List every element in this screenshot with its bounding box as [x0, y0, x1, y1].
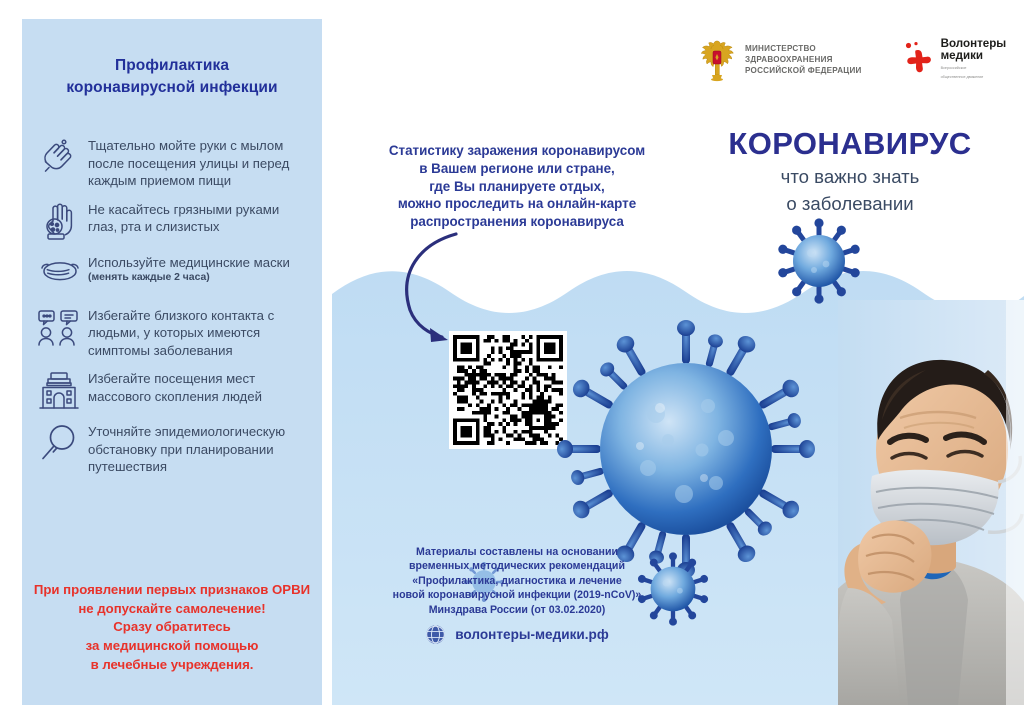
volunteers-logo: Волонтеры медики Всероссийское обществен… [902, 38, 1007, 81]
volunteers-tagline1: Всероссийское [941, 66, 1007, 72]
globe-icon [425, 624, 446, 645]
warning-line5: в лечебные учреждения. [30, 656, 314, 675]
list-item-text: Используйте медицинские маски [88, 255, 290, 270]
magnifying-glass-icon [36, 421, 82, 465]
warning-line3: Сразу обратитесь [30, 618, 314, 637]
volunteers-logo-text: Волонтеры медики Всероссийское обществен… [941, 38, 1007, 81]
two-people-talking-icon [36, 305, 82, 349]
poster: Профилактика коронавирусной инфекции Тща… [0, 0, 1024, 724]
ministry-line1: МИНИСТЕРСТВО [745, 43, 862, 54]
panel-title-line2: коронавирусной инфекции [22, 77, 322, 99]
public-building-icon [36, 368, 82, 412]
washing-hands-icon [36, 135, 82, 179]
volunteers-tagline2: общественное движение [941, 75, 1007, 81]
red-cross-icon [902, 41, 934, 77]
callout-line4: можно проследить на онлайн-карте [352, 195, 682, 213]
list-item-label: Избегайте близкого контакта с людьми, у … [88, 305, 306, 360]
website-url[interactable]: волонтеры-медики.рф [455, 627, 609, 642]
list-item: Избегайте посещения мест массового скопл… [22, 368, 322, 412]
coronavirus-illustration-small-1 [776, 218, 862, 304]
page-title: КОРОНАВИРУС что важно знать о заболевани… [690, 128, 1010, 216]
qr-code-canvas[interactable] [453, 335, 563, 445]
headline-sub-line1: что важно знать [690, 166, 1010, 189]
methodology-line4: новой коронавирусной инфекции (2019-nCoV… [352, 588, 682, 602]
list-item-label: Избегайте посещения мест массового скопл… [88, 368, 306, 405]
logo-row: МИНИСТЕРСТВО ЗДРАВООХРАНЕНИЯ РОССИЙСКОЙ … [697, 36, 1006, 82]
list-item: Тщательно мойте руки с мылом после посещ… [22, 135, 322, 190]
qr-code[interactable] [449, 331, 567, 449]
methodology-line5: Минздрава России (от 03.02.2020) [352, 603, 682, 617]
headline-main: КОРОНАВИРУС [690, 128, 1010, 161]
list-item-label: Используйте медицинские маски (менять ка… [88, 252, 306, 285]
warning-text: При проявлении первых признаков ОРВИ не … [30, 581, 314, 675]
warning-line2: не допускайте самолечение! [30, 600, 314, 619]
methodology-line2: временных методических рекомендаций [352, 559, 682, 573]
russian-double-headed-eagle-icon [697, 36, 737, 82]
methodology-note: Материалы составлены на основании времен… [352, 545, 682, 617]
statistics-callout: Статистику заражения коронавирусом в Ваш… [352, 142, 682, 231]
curved-arrow-down-icon [386, 228, 506, 344]
panel-title-line1: Профилактика [22, 55, 322, 77]
website-link[interactable]: волонтеры-медики.рф [352, 624, 682, 645]
ministry-logo-text: МИНИСТЕРСТВО ЗДРАВООХРАНЕНИЯ РОССИЙСКОЙ … [745, 43, 862, 76]
volunteers-line2: медики [941, 50, 1007, 63]
panel-title: Профилактика коронавирусной инфекции [22, 55, 322, 100]
callout-line3: где Вы планируете отдых, [352, 178, 682, 196]
list-item-label: Тщательно мойте руки с мылом после посещ… [88, 135, 306, 190]
methodology-line3: «Профилактика, диагностика и лечение [352, 574, 682, 588]
dirty-hand-icon [36, 199, 82, 243]
prevention-panel: Профилактика коронавирусной инфекции Тща… [22, 19, 322, 705]
coughing-person-in-mask-photo [838, 300, 1024, 705]
callout-line1: Статистику заражения коронавирусом [352, 142, 682, 160]
coughing-person-illustration [838, 300, 1024, 705]
list-item-subtext: (менять каждые 2 часа) [88, 272, 306, 284]
warning-line4: за медицинской помощью [30, 637, 314, 656]
ministry-line2: ЗДРАВООХРАНЕНИЯ [745, 54, 862, 65]
list-item-label: Не касайтесь грязными руками глаз, рта и… [88, 199, 306, 236]
list-item: Уточняйте эпидемиологическую обстановку … [22, 421, 322, 476]
list-item: Используйте медицинские маски (менять ка… [22, 252, 322, 296]
callout-line2: в Вашем регионе или стране, [352, 160, 682, 178]
prevention-tips-list: Тщательно мойте руки с мылом после посещ… [22, 135, 322, 485]
ministry-logo: МИНИСТЕРСТВО ЗДРАВООХРАНЕНИЯ РОССИЙСКОЙ … [697, 36, 862, 82]
list-item: Не касайтесь грязными руками глаз, рта и… [22, 199, 322, 243]
methodology-line1: Материалы составлены на основании [352, 545, 682, 559]
face-mask-icon [36, 252, 82, 296]
list-item-label: Уточняйте эпидемиологическую обстановку … [88, 421, 306, 476]
coronavirus-illustration-large [556, 318, 816, 580]
list-item: Избегайте близкого контакта с людьми, у … [22, 305, 322, 360]
warning-line1: При проявлении первых признаков ОРВИ [30, 581, 314, 600]
ministry-line3: РОССИЙСКОЙ ФЕДЕРАЦИИ [745, 65, 862, 76]
headline-sub-line2: о заболевании [690, 193, 1010, 216]
